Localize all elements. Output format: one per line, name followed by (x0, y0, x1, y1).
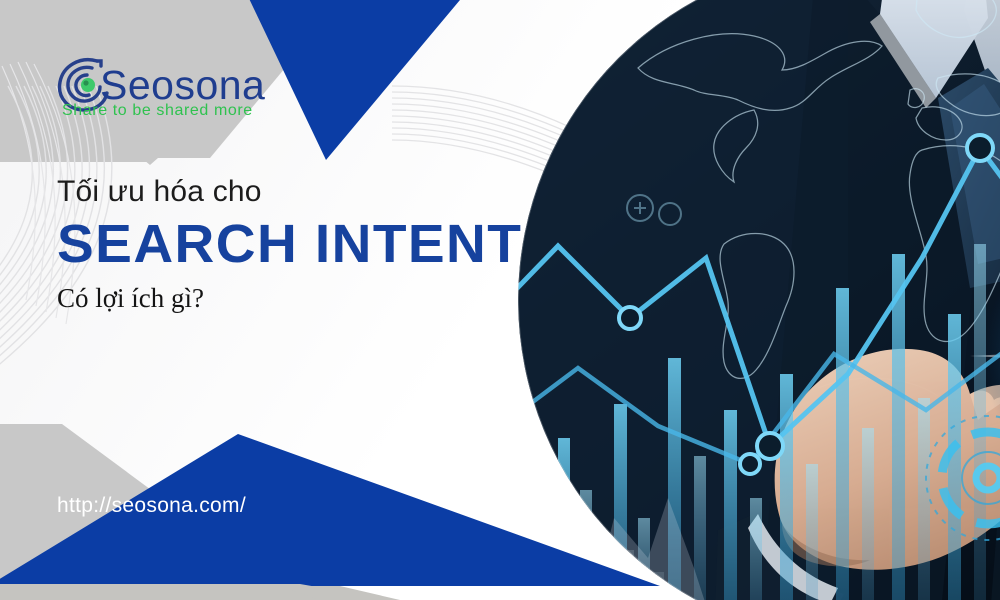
brand-tagline: Share to be shared more (62, 102, 253, 118)
logo-accent-dot (81, 78, 95, 92)
hero-photo-illustration (518, 0, 1000, 600)
brand-logo-graphic: Seosona Share to be shared more (56, 52, 296, 118)
promo-banner: Seosona Share to be shared more Tối ưu h… (0, 0, 1000, 600)
website-url[interactable]: http://seosona.com/ (57, 494, 246, 518)
headline-block: Tối ưu hóa cho SEARCH INTENT Có lợi ích … (57, 175, 527, 315)
logo-accent-pupil (83, 80, 88, 85)
sub-headline: Có lợi ích gì? (57, 282, 527, 314)
hero-photo (518, 0, 1000, 600)
main-headline: SEARCH INTENT (57, 216, 536, 273)
kicker-text: Tối ưu hóa cho (57, 175, 527, 210)
brand-logo[interactable]: Seosona Share to be shared more (56, 52, 296, 118)
